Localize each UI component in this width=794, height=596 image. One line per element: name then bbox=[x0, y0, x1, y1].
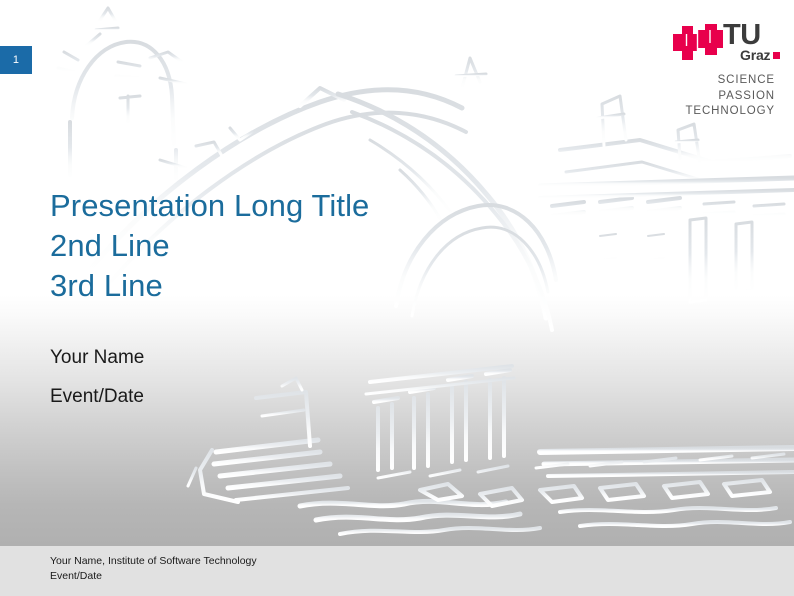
logo-graz-row: Graz bbox=[723, 48, 780, 63]
presentation-title: Presentation Long Title 2nd Line 3rd Lin… bbox=[50, 186, 369, 306]
subtitle-event-date: Event/Date bbox=[50, 377, 144, 416]
title-line-1: Presentation Long Title bbox=[50, 186, 369, 226]
tagline-line-3: TECHNOLOGY bbox=[655, 104, 775, 120]
footer-line-event-date: Event/Date bbox=[50, 569, 257, 584]
subtitle-author: Your Name bbox=[50, 338, 144, 377]
tu-graz-logo: TU Graz SCIENCE PASSION TECHNOLOGY bbox=[655, 20, 775, 120]
logo-square-dot bbox=[773, 52, 780, 59]
logo-tagline: SCIENCE PASSION TECHNOLOGY bbox=[655, 73, 775, 120]
presentation-title-slide: 1 bbox=[0, 0, 794, 596]
tu-graz-logo-mark bbox=[667, 24, 723, 62]
slide-number-badge: 1 bbox=[0, 46, 32, 74]
logo-tu-text: TU bbox=[723, 20, 761, 50]
logo-graz-text: Graz bbox=[740, 48, 770, 63]
presentation-subtitle: Your Name Event/Date bbox=[50, 338, 144, 416]
tagline-line-2: PASSION bbox=[655, 89, 775, 105]
slide-footer-text: Your Name, Institute of Software Technol… bbox=[50, 554, 257, 584]
tagline-line-1: SCIENCE bbox=[655, 73, 775, 89]
logo-wordmark-row: TU Graz bbox=[667, 20, 775, 66]
footer-line-author: Your Name, Institute of Software Technol… bbox=[50, 554, 257, 569]
title-line-2: 2nd Line bbox=[50, 226, 369, 266]
title-line-3: 3rd Line bbox=[50, 266, 369, 306]
